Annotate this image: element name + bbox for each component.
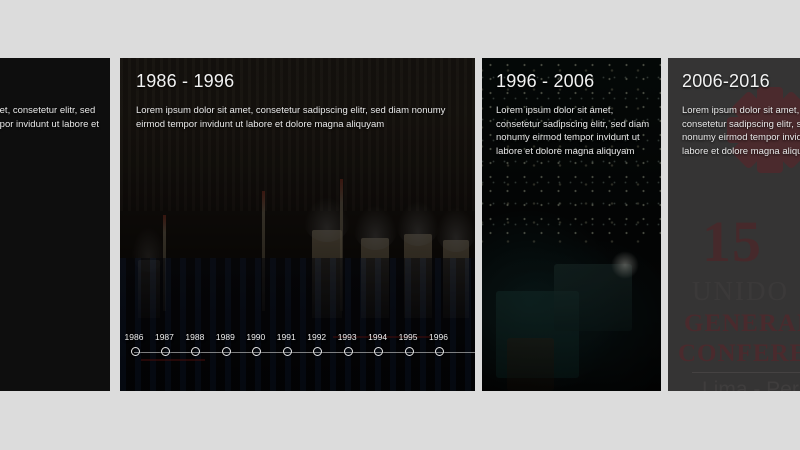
year-label-1992: 1992	[307, 331, 326, 343]
panel-1-content: - 1986 m dolor sit amet, consetetur elit…	[0, 58, 110, 145]
panel-4-title: 2006-2016	[682, 70, 800, 92]
year-marker-1989[interactable]	[222, 347, 231, 356]
year-timeline[interactable]: 1986198719881989199019911992199319941995…	[134, 331, 465, 357]
panel-2-title: 1986 - 1996	[136, 70, 459, 92]
year-marker-1996[interactable]	[435, 347, 444, 356]
panel-3-title: 1996 - 2006	[496, 70, 647, 92]
year-label-1987: 1987	[155, 331, 174, 343]
year-label-1991: 1991	[277, 331, 296, 343]
year-marker-1986[interactable]	[131, 347, 140, 356]
year-marker-1995[interactable]	[405, 347, 414, 356]
year-label-1989: 1989	[216, 331, 235, 343]
year-marker-1993[interactable]	[344, 347, 353, 356]
poster-divider	[692, 372, 800, 373]
year-timeline-axis	[134, 347, 465, 357]
year-marker-1987[interactable]	[161, 347, 170, 356]
year-label-1990: 1990	[246, 331, 265, 343]
timeline-panel-1976-1986[interactable]: - 1986 m dolor sit amet, consetetur elit…	[0, 58, 110, 391]
year-label-1986: 1986	[125, 331, 144, 343]
slide-canvas: - 1986 m dolor sit amet, consetetur elit…	[0, 0, 800, 450]
year-label-1995: 1995	[399, 331, 418, 343]
year-label-1994: 1994	[368, 331, 387, 343]
panel-1-body: m dolor sit amet, consetetur elitr, sed …	[0, 104, 100, 145]
panel-3-content: 1996 - 2006 Lorem ipsum dolor sit amet, …	[482, 58, 661, 158]
year-marker-1994[interactable]	[374, 347, 383, 356]
panel-4-body: Lorem ipsum dolor sit amet, consetetur s…	[682, 104, 800, 158]
year-marker-1990[interactable]	[252, 347, 261, 356]
poster-title-line-1: GENERAL	[684, 310, 800, 338]
panel-2-body: Lorem ipsum dolor sit amet, consetetur s…	[136, 104, 456, 131]
panel-4-content: 2006-2016 Lorem ipsum dolor sit amet, co…	[668, 58, 800, 158]
year-label-1996: 1996	[429, 331, 448, 343]
timeline-panel-2006-2016[interactable]: 15 UNIDO GENERAL CONFERENCE Lima - Peru …	[668, 58, 800, 391]
panel-1-inner: - 1986 m dolor sit amet, consetetur elit…	[0, 58, 110, 391]
poster-city: Lima - Peru	[702, 378, 800, 391]
year-timeline-labels: 1986198719881989199019911992199319941995…	[134, 331, 465, 344]
year-marker-1992[interactable]	[313, 347, 322, 356]
panel-3-inner: 1996 - 2006 Lorem ipsum dolor sit amet, …	[482, 58, 661, 391]
year-label-1988: 1988	[185, 331, 204, 343]
panel-3-body: Lorem ipsum dolor sit amet, consetetur s…	[496, 104, 651, 158]
timeline-panel-1996-2006[interactable]: 1996 - 2006 Lorem ipsum dolor sit amet, …	[482, 58, 661, 391]
panel-1-title: - 1986	[0, 70, 96, 92]
year-marker-1991[interactable]	[283, 347, 292, 356]
poster-organization: UNIDO	[692, 276, 789, 307]
panel-2-content: 1986 - 1996 Lorem ipsum dolor sit amet, …	[120, 58, 475, 131]
year-label-1993: 1993	[338, 331, 357, 343]
timeline-panel-1986-1996[interactable]: 1986 - 1996 Lorem ipsum dolor sit amet, …	[120, 58, 475, 391]
poster-edition-number: 15	[702, 208, 762, 275]
year-timeline-line	[134, 352, 475, 353]
poster-title-line-2: CONFERENCE	[678, 340, 800, 368]
panel-2-inner: 1986 - 1996 Lorem ipsum dolor sit amet, …	[120, 58, 475, 391]
year-marker-1988[interactable]	[191, 347, 200, 356]
panel-4-inner: 15 UNIDO GENERAL CONFERENCE Lima - Peru …	[668, 58, 800, 391]
